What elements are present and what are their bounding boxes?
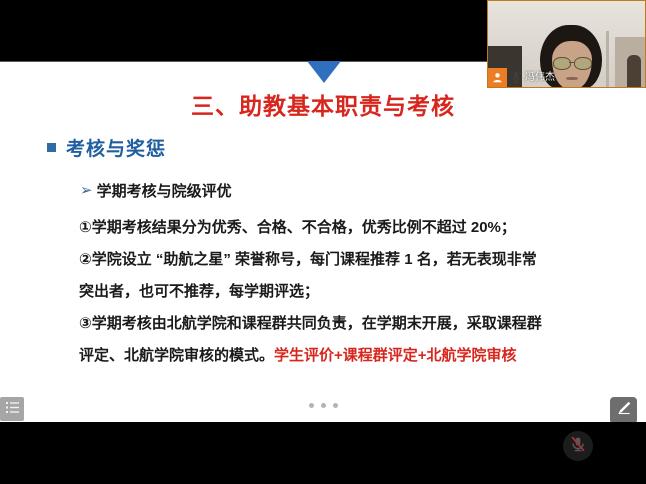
sub-heading: ➢ 学期考核与院级评优 — [80, 180, 232, 201]
sub-heading-label: 学期考核与院级评优 — [97, 180, 232, 201]
page-dot[interactable] — [309, 403, 314, 408]
paragraph-item-3-cont-text: 评定、北航学院审核的模式。 — [79, 347, 274, 364]
highlighted-formula-text: 学生评价+课程群评定+北航学院审核 — [274, 347, 517, 364]
participant-name-label: 冯伟杰 — [525, 73, 555, 83]
page-dot[interactable] — [321, 403, 326, 408]
paragraph-item-1: ①学期考核结果分为优秀、合格、不合格，优秀比例不超过 20%； — [79, 212, 607, 244]
slide-body: ①学期考核结果分为优秀、合格、不合格，优秀比例不超过 20%； ②学院设立 “助… — [79, 212, 607, 372]
paragraph-item-3: ③学期考核由北航学院和课程群共同负责，在学期末开展，采取课程群 — [79, 308, 607, 340]
presentation-slide[interactable]: 三、助教基本职责与考核 考核与奖惩 ➢ 学期考核与院级评优 ①学期考核结果分为优… — [0, 61, 646, 422]
glasses-lens-right — [574, 57, 592, 70]
section-heading-label: 考核与奖惩 — [66, 134, 166, 161]
slide-title: 三、助教基本职责与考核 — [0, 87, 646, 121]
participant-video-tile[interactable]: 冯伟杰 — [487, 0, 646, 88]
blue-triangle-decoration — [307, 61, 341, 83]
pen-icon — [616, 400, 632, 421]
square-bullet-icon — [47, 143, 56, 152]
video-background-pole — [606, 31, 609, 88]
page-dot[interactable] — [333, 403, 338, 408]
microphone-muted-icon — [569, 435, 587, 458]
mute-toggle-button[interactable] — [563, 431, 593, 461]
slide-menu-button[interactable] — [0, 397, 24, 421]
paragraph-item-2: ②学院设立 “助航之星” 荣誉称号，每门课程推荐 1 名，若无表现非常 — [79, 244, 607, 276]
participant-name-bar: 冯伟杰 — [488, 68, 561, 87]
person-icon — [488, 68, 507, 87]
desk-microphone-object — [627, 55, 641, 88]
paragraph-item-3-cont: 评定、北航学院审核的模式。学生评价+课程群评定+北航学院审核 — [79, 340, 607, 372]
arrow-bullet-icon: ➢ — [80, 183, 93, 198]
paragraph-item-2-cont: 突出者，也可不推荐，每学期评选； — [79, 276, 607, 308]
slide-page-indicator[interactable] — [0, 403, 646, 408]
participant-mouth — [566, 77, 578, 80]
annotate-button[interactable] — [610, 397, 637, 422]
participant-glasses — [552, 57, 592, 68]
screen-share-viewer: 三、助教基本职责与考核 考核与奖惩 ➢ 学期考核与院级评优 ①学期考核结果分为优… — [0, 0, 646, 484]
section-heading: 考核与奖惩 — [47, 134, 166, 161]
microphone-icon — [511, 71, 521, 84]
